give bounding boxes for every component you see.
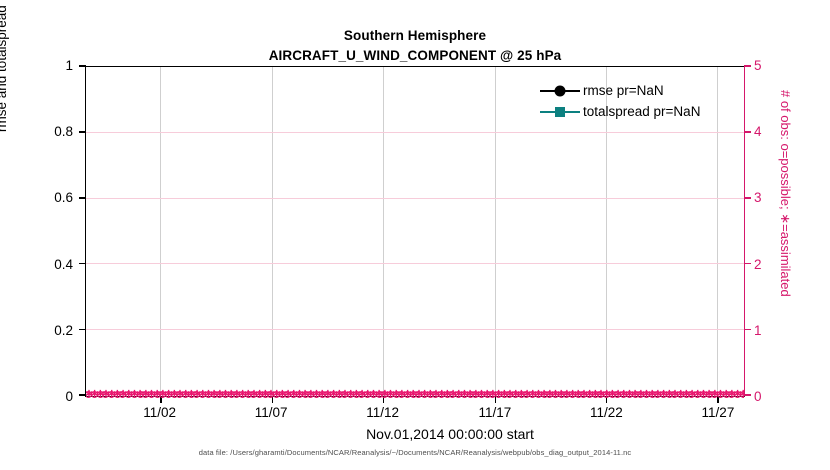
right-tick-4 (744, 131, 751, 133)
legend-item-1[interactable]: totalspread pr=NaN (540, 101, 740, 122)
x-tick-label-2: 11/12 (348, 406, 418, 420)
right-tick-label-1: 1 (754, 324, 784, 338)
data-file-caption: data file: /Users/gharamti/Documents/NCA… (0, 448, 830, 457)
obs-count-markers: ∗∗∗∗∗∗∗∗∗∗∗∗∗∗∗∗∗∗∗∗∗∗∗∗∗∗∗∗∗∗∗∗∗∗∗∗∗∗∗∗… (86, 389, 744, 402)
horizontal-gridline-1 (86, 263, 744, 264)
legend-marker (555, 85, 566, 96)
x-tick-label-0: 11/02 (125, 406, 195, 420)
legend-label-0: rmse pr=NaN (580, 83, 664, 98)
vertical-gridline-3 (495, 67, 496, 396)
right-tick-3 (744, 197, 751, 199)
x-tick-label-5: 11/27 (683, 406, 753, 420)
horizontal-gridline-2 (86, 198, 744, 199)
left-tick-0 (79, 394, 86, 396)
vertical-gridline-2 (383, 67, 384, 396)
chart-legend: rmse pr=NaNtotalspread pr=NaN (540, 80, 740, 122)
vertical-gridline-0 (160, 67, 161, 396)
chart-title-line2: AIRCRAFT_U_WIND_COMPONENT @ 25 hPa (0, 46, 830, 66)
chart-figure: Southern Hemisphere AIRCRAFT_U_WIND_COMP… (0, 0, 830, 470)
chart-title: Southern Hemisphere AIRCRAFT_U_WIND_COMP… (0, 26, 830, 66)
horizontal-gridline-3 (86, 132, 744, 133)
left-tick-label-4: 0.8 (31, 125, 73, 139)
left-tick-4 (79, 131, 86, 133)
right-tick-1 (744, 329, 751, 331)
left-tick-2 (79, 263, 86, 265)
right-tick-2 (744, 263, 751, 265)
left-tick-label-3: 0.6 (31, 191, 73, 205)
left-tick-label-2: 0.4 (31, 258, 73, 272)
legend-marker-circle-icon (540, 83, 580, 99)
right-tick-0 (744, 394, 751, 396)
horizontal-gridline-0 (86, 329, 744, 330)
obs-assimilated-marker: ∗ (739, 390, 744, 399)
legend-marker (555, 107, 565, 117)
legend-label-1: totalspread pr=NaN (580, 104, 700, 119)
left-tick-5 (79, 65, 86, 67)
left-tick-1 (79, 329, 86, 331)
right-tick-5 (744, 65, 751, 67)
x-axis-label: Nov.01,2014 00:00:00 start (0, 426, 830, 442)
right-axis-label: # of obs: o=possible; ∗=assimilated (777, 90, 793, 297)
chart-title-line1: Southern Hemisphere (0, 26, 830, 46)
right-tick-label-0: 0 (754, 390, 784, 404)
left-axis-label: rmse and totalspread (0, 5, 9, 132)
left-tick-label-1: 0.2 (31, 324, 73, 338)
vertical-gridline-1 (272, 67, 273, 396)
x-tick-label-3: 11/17 (460, 406, 530, 420)
left-tick-label-0: 0 (31, 390, 73, 404)
left-tick-label-5: 1 (31, 59, 73, 73)
legend-item-0[interactable]: rmse pr=NaN (540, 80, 740, 101)
x-axis-label-text: Nov.01,2014 00:00:00 start (296, 426, 534, 442)
left-tick-3 (79, 197, 86, 199)
x-tick-label-1: 11/07 (236, 406, 306, 420)
right-tick-label-5: 5 (754, 59, 784, 73)
legend-marker-square-icon (540, 104, 580, 120)
x-tick-label-4: 11/22 (571, 406, 641, 420)
